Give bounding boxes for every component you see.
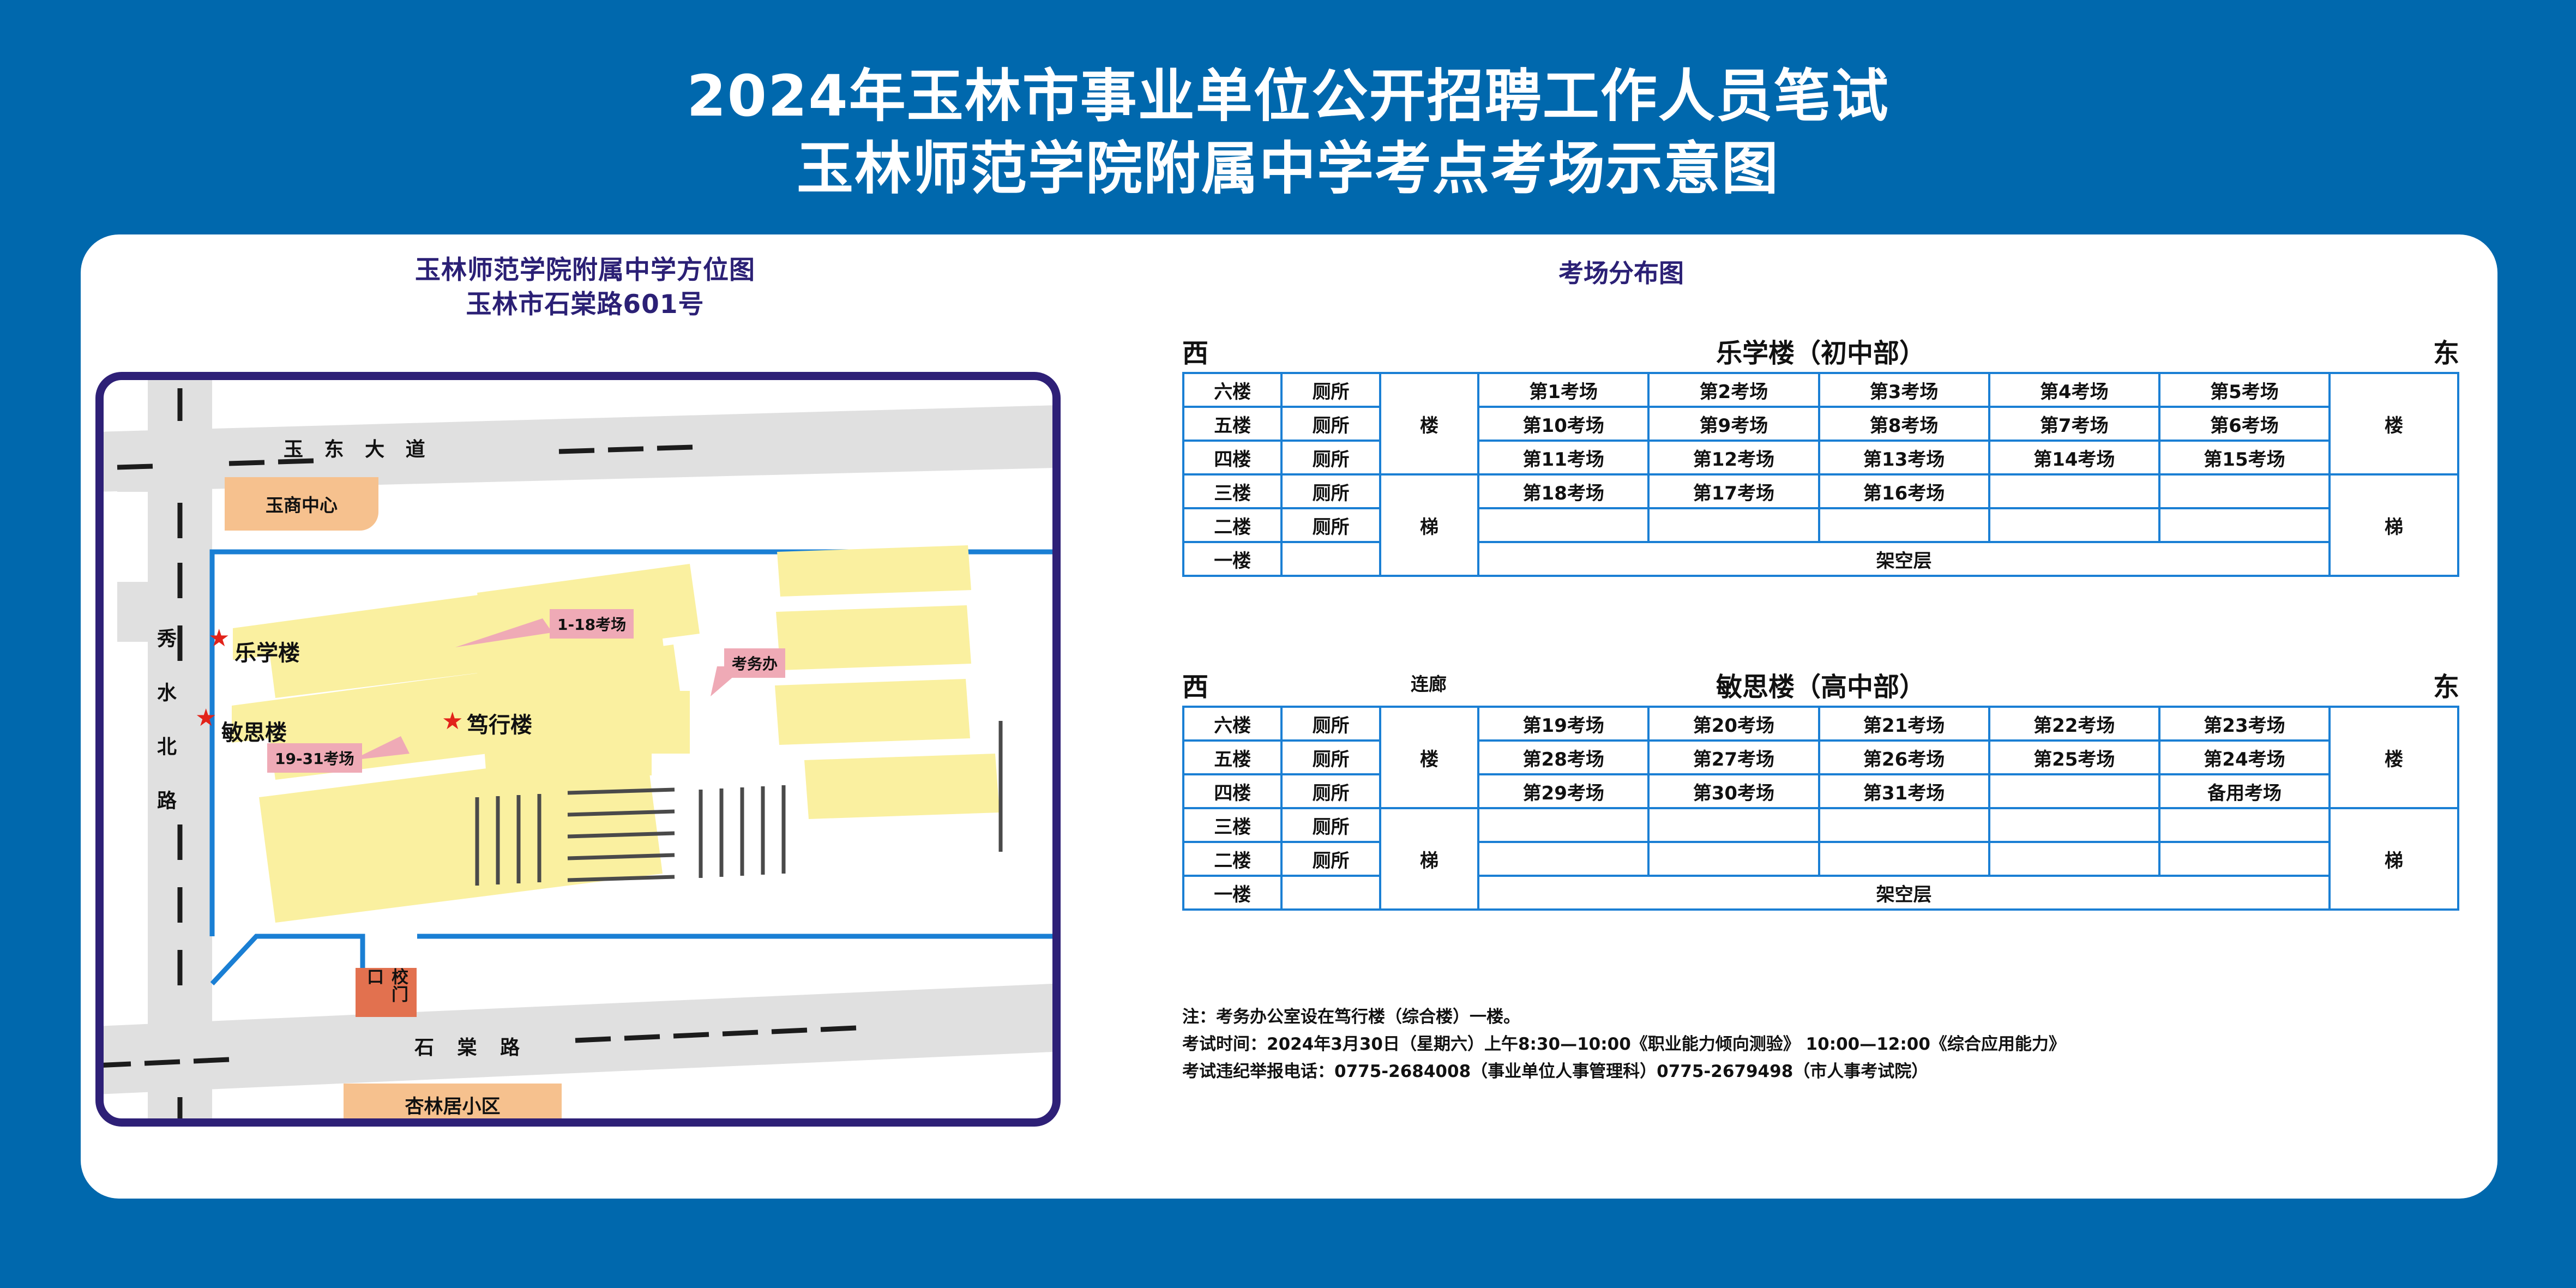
cell-floor: 一楼 <box>1183 542 1281 576</box>
poster-title: 2024年玉林市事业单位公开招聘工作人员笔试 玉林师范学院附属中学考点考场示意图 <box>0 60 2576 205</box>
cell-stair-east-lower: 梯 <box>2330 808 2458 910</box>
cell-toilet: 厕所 <box>1281 474 1380 508</box>
cell-exam-room: 第24考场 <box>2159 741 2330 774</box>
cell-toilet <box>1281 876 1380 910</box>
cell-exam-room: 备用考场 <box>2159 774 2330 808</box>
cell-exam-room <box>1819 842 1989 876</box>
cell-toilet: 厕所 <box>1281 741 1380 774</box>
exam-table-block-1: 西 乐学楼（初中部） 东 六楼厕所楼第1考场第2考场第3考场第4考场第5考场楼五… <box>1182 332 2459 577</box>
cell-exam-room: 第23考场 <box>2159 707 2330 741</box>
road-label-north: 玉 东 大 道 <box>284 434 432 462</box>
cell-exam-room: 第19考场 <box>1478 707 1648 741</box>
title-line-1: 2024年玉林市事业单位公开招聘工作人员笔试 <box>0 60 2576 133</box>
cell-open-floor: 架空层 <box>1478 542 2330 576</box>
star-icon-minsi: ★ <box>195 706 216 730</box>
cell-toilet: 厕所 <box>1281 808 1380 842</box>
cell-exam-room: 第1考场 <box>1478 373 1648 407</box>
title-line-2: 玉林师范学院附属中学考点考场示意图 <box>0 133 2576 205</box>
cell-toilet: 厕所 <box>1281 373 1380 407</box>
building-name-1: 乐学楼（初中部） <box>1182 332 2459 370</box>
cell-exam-room: 第26考场 <box>1819 741 1989 774</box>
cell-stair-west-lower: 梯 <box>1380 808 1478 910</box>
cell-exam-room: 第10考场 <box>1478 407 1648 441</box>
cell-exam-room: 第8考场 <box>1819 407 1989 441</box>
cell-exam-room: 第17考场 <box>1648 474 1819 508</box>
cell-floor: 五楼 <box>1183 741 1281 774</box>
corridor-label-2: 连廊 <box>1394 670 1464 696</box>
cell-exam-room: 第13考场 <box>1819 441 1989 474</box>
exam-room-panel: 考场分布图 西 乐学楼（初中部） 东 六楼厕所楼第1考场第2考场第3考场第4考场… <box>1149 234 2497 1199</box>
map-title-line-2: 玉林市石棠路601号 <box>81 288 1090 322</box>
cell-exam-room <box>2159 474 2330 508</box>
cell-exam-room: 第14考场 <box>1989 441 2159 474</box>
building-label-minsi: 敏思楼 <box>221 715 287 747</box>
cell-floor: 三楼 <box>1183 474 1281 508</box>
building-label-lexue: 乐学楼 <box>234 635 300 667</box>
note-line-2: 考试时间：2024年3月30日（星期六）上午8:30—10:00《职业能力倾向测… <box>1182 1031 2480 1058</box>
cell-toilet: 厕所 <box>1281 441 1380 474</box>
cell-stair-west-upper: 楼 <box>1380 707 1478 808</box>
cell-exam-room: 第30考场 <box>1648 774 1819 808</box>
cell-exam-room: 第20考场 <box>1648 707 1819 741</box>
cell-exam-room <box>1648 808 1819 842</box>
cell-exam-room <box>1478 842 1648 876</box>
table-row: 二楼厕所 <box>1183 508 2458 542</box>
cell-exam-room: 第7考场 <box>1989 407 2159 441</box>
exam-table-block-2: 西 敏思楼（高中部） 连廊 东 六楼厕所楼第19考场第20考场第21考场第22考… <box>1182 665 2459 911</box>
footer-notes: 注：考务办公室设在笃行楼（综合楼）一楼。 考试时间：2024年3月30日（星期六… <box>1182 1003 2480 1086</box>
cell-exam-room <box>2159 508 2330 542</box>
cell-exam-room: 第28考场 <box>1478 741 1648 774</box>
table-row: 三楼厕所梯第18考场第17考场第16考场梯 <box>1183 474 2458 508</box>
campus-buildings <box>232 545 1000 923</box>
cell-exam-room <box>1478 508 1648 542</box>
cell-exam-room <box>1648 508 1819 542</box>
cell-exam-room: 第6考场 <box>2159 407 2330 441</box>
map-title: 玉林师范学院附属中学方位图 玉林市石棠路601号 <box>81 254 1090 322</box>
exam-room-title: 考场分布图 <box>1149 254 2093 290</box>
table-row: 一楼架空层 <box>1183 876 2458 910</box>
cell-floor: 四楼 <box>1183 774 1281 808</box>
road-label-west: 秀 水 北 路 <box>151 628 179 816</box>
direction-east-2: 东 <box>2433 665 2459 703</box>
cell-stair-west-lower: 梯 <box>1380 474 1478 576</box>
cell-exam-room: 第18考场 <box>1478 474 1648 508</box>
cell-exam-room <box>2159 808 2330 842</box>
cell-floor: 五楼 <box>1183 407 1281 441</box>
cell-exam-room: 第11考场 <box>1478 441 1648 474</box>
exam-table-2: 六楼厕所楼第19考场第20考场第21考场第22考场第23考场楼五楼厕所第28考场… <box>1182 706 2459 911</box>
table-row: 三楼厕所梯梯 <box>1183 808 2458 842</box>
map-title-line-1: 玉林师范学院附属中学方位图 <box>81 254 1090 288</box>
note-line-1: 注：考务办公室设在笃行楼（综合楼）一楼。 <box>1182 1003 2480 1031</box>
building-name-2: 敏思楼（高中部） <box>1182 665 2459 703</box>
cell-toilet: 厕所 <box>1281 407 1380 441</box>
table-row: 一楼架空层 <box>1183 542 2458 576</box>
cell-toilet: 厕所 <box>1281 508 1380 542</box>
cell-exam-room <box>1989 808 2159 842</box>
cell-exam-room: 第9考场 <box>1648 407 1819 441</box>
note-line-3: 考试违纪举报电话：0775-2684008（事业单位人事管理科）0775-267… <box>1182 1058 2480 1085</box>
table-row: 六楼厕所楼第19考场第20考场第21考场第22考场第23考场楼 <box>1183 707 2458 741</box>
table-2-header: 西 敏思楼（高中部） 连廊 东 <box>1182 665 2459 706</box>
table-1-header: 西 乐学楼（初中部） 东 <box>1182 332 2459 372</box>
cell-toilet: 厕所 <box>1281 774 1380 808</box>
cell-floor: 三楼 <box>1183 808 1281 842</box>
cell-floor: 六楼 <box>1183 373 1281 407</box>
star-icon-duxing: ★ <box>442 709 463 733</box>
block-mall: 玉商中心 <box>225 477 378 531</box>
block-residential: 杏林居小区 <box>344 1084 562 1126</box>
cell-stair-east-upper: 楼 <box>2330 373 2458 474</box>
table-row: 六楼厕所楼第1考场第2考场第3考场第4考场第5考场楼 <box>1183 373 2458 407</box>
star-icon-lexue: ★ <box>208 627 230 651</box>
cell-exam-room <box>1819 508 1989 542</box>
map-frame: 玉 东 大 道 秀 水 北 路 石 棠 路 玉商中心 杏林居小区 校门口 ★ 乐… <box>95 372 1061 1127</box>
cell-exam-room: 第22考场 <box>1989 707 2159 741</box>
cell-exam-room: 第15考场 <box>2159 441 2330 474</box>
table-row: 五楼厕所第28考场第27考场第26考场第25考场第24考场 <box>1183 741 2458 774</box>
cell-stair-west-upper: 楼 <box>1380 373 1478 474</box>
cell-exam-room: 第16考场 <box>1819 474 1989 508</box>
callout-rooms-1-18: 1-18考场 <box>550 609 634 639</box>
cell-toilet <box>1281 542 1380 576</box>
callout-rooms-19-31: 19-31考场 <box>267 743 362 773</box>
callout-exam-office: 考务办 <box>724 648 785 678</box>
cell-exam-room <box>1648 842 1819 876</box>
cell-exam-room: 第2考场 <box>1648 373 1819 407</box>
cell-toilet: 厕所 <box>1281 842 1380 876</box>
table-row: 五楼厕所第10考场第9考场第8考场第7考场第6考场 <box>1183 407 2458 441</box>
cell-floor: 二楼 <box>1183 842 1281 876</box>
cell-exam-room: 第27考场 <box>1648 741 1819 774</box>
exam-table-1: 六楼厕所楼第1考场第2考场第3考场第4考场第5考场楼五楼厕所第10考场第9考场第… <box>1182 372 2459 577</box>
cell-floor: 一楼 <box>1183 876 1281 910</box>
road-label-south: 石 棠 路 <box>414 1032 528 1060</box>
cell-floor: 四楼 <box>1183 441 1281 474</box>
cell-toilet: 厕所 <box>1281 707 1380 741</box>
table-row: 四楼厕所第11考场第12考场第13考场第14考场第15考场 <box>1183 441 2458 474</box>
direction-east-1: 东 <box>2433 332 2459 370</box>
cell-open-floor: 架空层 <box>1478 876 2330 910</box>
cell-exam-room: 第25考场 <box>1989 741 2159 774</box>
cell-exam-room: 第31考场 <box>1819 774 1989 808</box>
cell-exam-room <box>1478 808 1648 842</box>
cell-exam-room: 第4考场 <box>1989 373 2159 407</box>
table-row: 四楼厕所第29考场第30考场第31考场备用考场 <box>1183 774 2458 808</box>
cell-exam-room <box>2159 842 2330 876</box>
cell-exam-room: 第12考场 <box>1648 441 1819 474</box>
cell-floor: 二楼 <box>1183 508 1281 542</box>
content-card: 玉林师范学院附属中学方位图 玉林市石棠路601号 <box>81 234 2497 1199</box>
cell-floor: 六楼 <box>1183 707 1281 741</box>
cell-exam-room: 第3考场 <box>1819 373 1989 407</box>
cell-exam-room <box>1989 474 2159 508</box>
cell-exam-room <box>1989 842 2159 876</box>
map-panel: 玉林师范学院附属中学方位图 玉林市石棠路601号 <box>81 234 1149 1199</box>
cell-exam-room: 第21考场 <box>1819 707 1989 741</box>
cell-exam-room <box>1989 508 2159 542</box>
cell-exam-room: 第29考场 <box>1478 774 1648 808</box>
cell-exam-room <box>1819 808 1989 842</box>
cell-exam-room: 第5考场 <box>2159 373 2330 407</box>
cell-stair-east-upper: 楼 <box>2330 707 2458 808</box>
building-label-duxing: 笃行楼 <box>467 707 532 739</box>
table-row: 二楼厕所 <box>1183 842 2458 876</box>
cell-exam-room <box>1989 774 2159 808</box>
cell-stair-east-lower: 梯 <box>2330 474 2458 576</box>
block-school-gate: 校门口 <box>356 968 417 1017</box>
